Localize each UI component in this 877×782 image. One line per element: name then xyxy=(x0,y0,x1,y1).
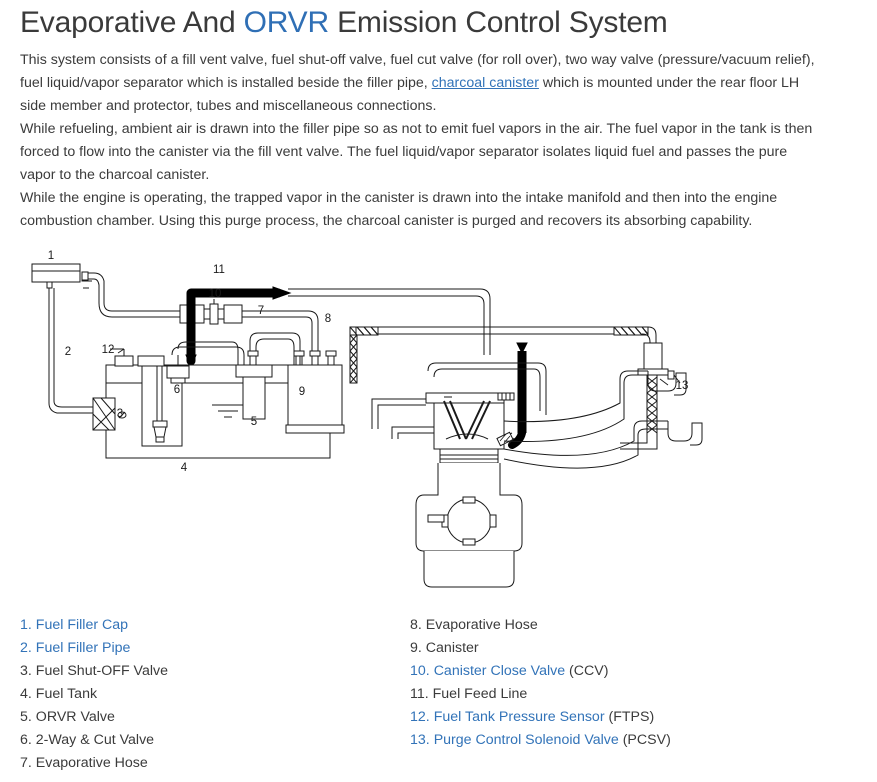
legend: 1. Fuel Filler Cap 2. Fuel Filler Pipe 3… xyxy=(20,614,857,776)
legend-item-8: 8. Evaporative Hose xyxy=(410,614,830,637)
legend-item-3-label: Fuel Shut-OFF Valve xyxy=(36,663,168,679)
intro-paragraph-1: This system consists of a fill vent valv… xyxy=(20,49,820,118)
legend-item-7: 7. Evaporative Hose xyxy=(20,752,410,775)
legend-item-12-suffix: (FTPS) xyxy=(605,709,655,725)
legend-item-10-label[interactable]: Canister Close Valve xyxy=(434,663,565,679)
legend-column-left: 1. Fuel Filler Cap 2. Fuel Filler Pipe 3… xyxy=(20,614,410,776)
callout-10: 10 xyxy=(209,288,222,300)
legend-item-1[interactable]: 1. Fuel Filler Cap xyxy=(20,614,410,637)
legend-item-10-suffix: (CCV) xyxy=(565,663,608,679)
callout-6: 6 xyxy=(174,384,180,396)
legend-item-10-num: 10. xyxy=(410,663,430,679)
legend-item-5-num: 5. xyxy=(20,709,32,725)
callout-5: 5 xyxy=(251,416,257,428)
callout-9: 9 xyxy=(299,386,305,398)
callout-2: 2 xyxy=(65,346,71,358)
evaporative-hose-8 xyxy=(350,327,656,383)
legend-item-7-num: 7. xyxy=(20,755,32,771)
legend-item-6-num: 6. xyxy=(20,732,32,748)
callout-13: 13 xyxy=(676,380,689,392)
page-title: Evaporative And ORVR Emission Control Sy… xyxy=(20,6,857,41)
legend-item-5-label: ORVR Valve xyxy=(36,709,115,725)
system-diagram: 1 2 3 4 5 6 7 8 9 10 11 12 13 xyxy=(20,243,857,598)
legend-item-13[interactable]: 13. Purge Control Solenoid Valve (PCSV) xyxy=(410,729,830,752)
intro-paragraph-3: While the engine is operating, the trapp… xyxy=(20,187,820,233)
legend-item-2-label[interactable]: Fuel Filler Pipe xyxy=(36,640,131,656)
legend-item-12[interactable]: 12. Fuel Tank Pressure Sensor (FTPS) xyxy=(410,706,830,729)
legend-item-9: 9. Canister xyxy=(410,637,830,660)
legend-item-6: 6. 2-Way & Cut Valve xyxy=(20,729,410,752)
callout-8: 8 xyxy=(325,313,331,325)
fill-vent-hose xyxy=(82,272,180,317)
page-title-part-3: Emission Control System xyxy=(329,6,668,39)
page-title-accent: ORVR xyxy=(244,6,329,39)
legend-item-10[interactable]: 10. Canister Close Valve (CCV) xyxy=(410,660,830,683)
system-diagram-svg: 1 2 3 4 5 6 7 8 9 10 11 12 13 xyxy=(20,243,857,598)
legend-item-2[interactable]: 2. Fuel Filler Pipe xyxy=(20,637,410,660)
canister-shape xyxy=(286,351,344,433)
page-title-part-1: Evaporative And xyxy=(20,6,244,39)
fill-vent-valve-mount xyxy=(138,356,164,366)
orvr-to-canister-hose xyxy=(250,333,300,365)
callout-1: 1 xyxy=(48,250,54,262)
callout-12: 12 xyxy=(102,344,115,356)
legend-item-9-num: 9. xyxy=(410,640,422,656)
legend-item-5: 5. ORVR Valve xyxy=(20,706,410,729)
legend-item-1-num: 1. xyxy=(20,617,32,633)
legend-item-4-num: 4. xyxy=(20,686,32,702)
callout-11: 11 xyxy=(213,264,225,276)
charcoal-canister-link[interactable]: charcoal canister xyxy=(432,75,539,91)
callout-3: 3 xyxy=(117,408,123,420)
legend-item-3: 3. Fuel Shut-OFF Valve xyxy=(20,660,410,683)
hose-braid-left xyxy=(350,327,378,335)
legend-item-12-label[interactable]: Fuel Tank Pressure Sensor xyxy=(434,709,605,725)
legend-item-11-label: Fuel Feed Line xyxy=(433,686,528,702)
legend-item-7-label: Evaporative Hose xyxy=(36,755,148,771)
callout-4: 4 xyxy=(181,462,188,474)
legend-item-4-label: Fuel Tank xyxy=(36,686,97,702)
fuel-filler-cap-shape xyxy=(32,264,80,288)
legend-item-13-suffix: (PCSV) xyxy=(619,732,671,748)
legend-item-8-num: 8. xyxy=(410,617,422,633)
legend-item-8-label: Evaporative Hose xyxy=(426,617,538,633)
legend-item-11-num: 11. xyxy=(410,686,429,702)
page-root: Evaporative And ORVR Emission Control Sy… xyxy=(0,6,877,782)
legend-item-11: 11. Fuel Feed Line xyxy=(410,683,830,706)
legend-column-right: 8. Evaporative Hose 9. Canister 10. Cani… xyxy=(410,614,830,776)
legend-item-3-num: 3. xyxy=(20,663,32,679)
intro-paragraph-2: While refueling, ambient air is drawn in… xyxy=(20,118,820,187)
legend-item-1-label[interactable]: Fuel Filler Cap xyxy=(36,617,128,633)
legend-item-2-num: 2. xyxy=(20,640,32,656)
callout-7: 7 xyxy=(258,305,264,317)
legend-item-12-num: 12. xyxy=(410,709,430,725)
legend-item-6-label: 2-Way & Cut Valve xyxy=(36,732,154,748)
legend-item-4: 4. Fuel Tank xyxy=(20,683,410,706)
purge-control-solenoid-valve-shape xyxy=(620,343,680,449)
legend-item-9-label: Canister xyxy=(426,640,479,656)
legend-item-13-label[interactable]: Purge Control Solenoid Valve xyxy=(434,732,619,748)
legend-item-13-num: 13. xyxy=(410,732,430,748)
canister-hose-braid xyxy=(350,335,357,383)
